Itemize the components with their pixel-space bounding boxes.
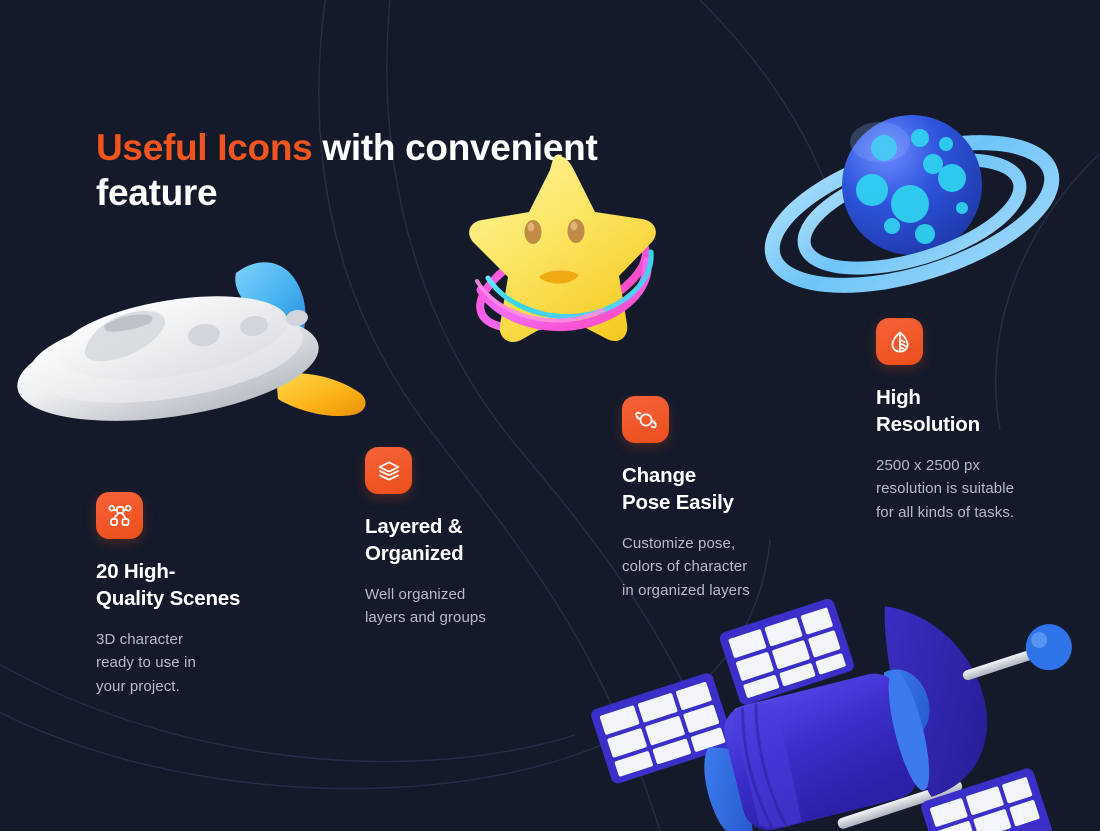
feature-card-layered: Layered & Organized Well organized layer… (365, 447, 565, 630)
smiling-star-illustration (443, 138, 678, 368)
feature-title: Layered & Organized (365, 513, 565, 567)
feature-title: 20 High- Quality Scenes (96, 558, 296, 612)
ufo-spaceship-illustration (8, 243, 378, 453)
feature-description: 3D character ready to use in your projec… (96, 628, 296, 698)
satellite-illustration (590, 565, 1090, 831)
rotate-3d-icon (622, 396, 669, 443)
ringed-planet-illustration (760, 82, 1070, 332)
node-graph-icon (96, 492, 143, 539)
feature-description: 2500 x 2500 px resolution is suitable fo… (876, 454, 1086, 524)
feature-card-pose: Change Pose Easily Customize pose, color… (622, 396, 822, 602)
feature-card-scenes: 20 High- Quality Scenes 3D character rea… (96, 492, 296, 698)
layers-icon (365, 447, 412, 494)
poster-canvas: Useful Icons with convenient feature (0, 0, 1100, 831)
feature-description: Customize pose, colors of character in o… (622, 532, 822, 602)
page-title-accent: Useful Icons (96, 127, 312, 168)
leaf-icon (876, 318, 923, 365)
feature-title: High Resolution (876, 384, 1086, 438)
feature-card-resolution: High Resolution 2500 x 2500 px resolutio… (876, 318, 1086, 524)
feature-title: Change Pose Easily (622, 462, 822, 516)
feature-description: Well organized layers and groups (365, 583, 565, 630)
